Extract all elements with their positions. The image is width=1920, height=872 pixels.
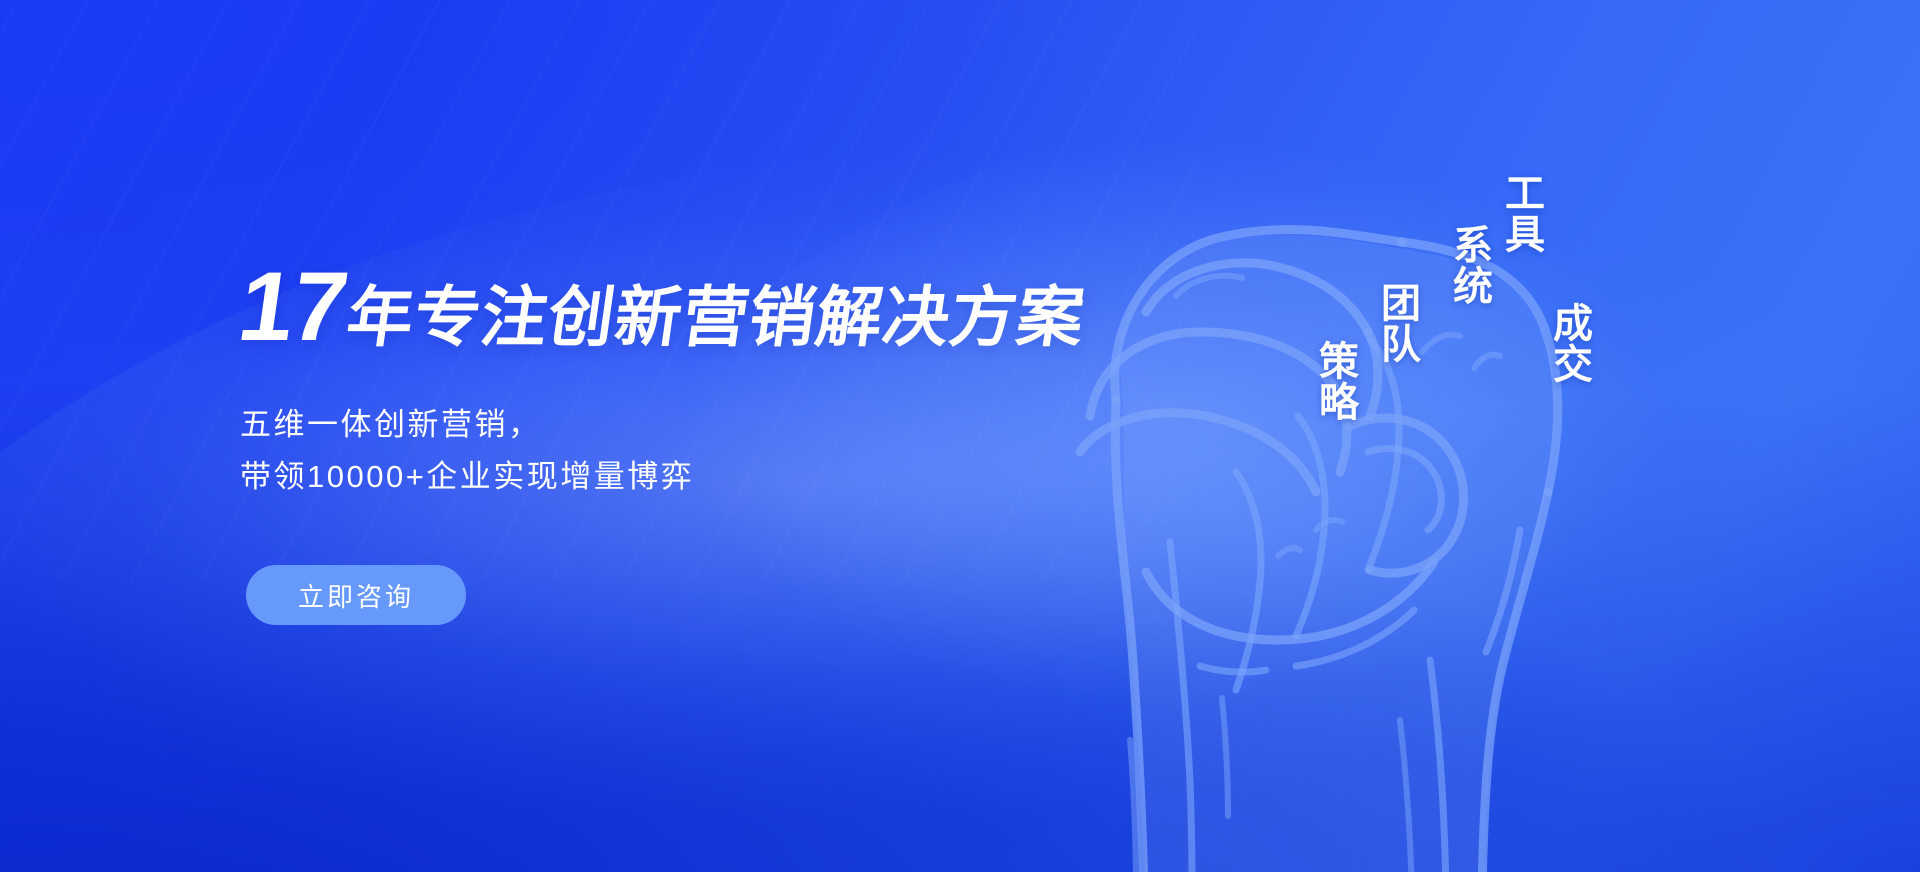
subtitle-line-2: 带领10000+企业实现增量博弈 (240, 451, 1120, 503)
hero-content: 17 年专注创新营销解决方案 五维一体创新营销， 带领10000+企业实现增量博… (240, 236, 1120, 625)
headline-years-number: 17 (233, 257, 352, 355)
fist-label-tools: 工具 (1498, 172, 1544, 254)
page-title: 17 年专注创新营销解决方案 (233, 257, 1127, 355)
subtitle-line-1: 五维一体创新营销， (240, 399, 1120, 451)
fist-label-system: 系统 (1446, 224, 1492, 306)
hero-subtitle: 五维一体创新营销， 带领10000+企业实现增量博弈 (240, 399, 1120, 503)
hero-banner: 工具 系统 团队 成交 策略 17 年专注创新营销解决方案 五维一体创新营销， … (0, 0, 1920, 872)
fist-label-team: 团队 (1374, 282, 1420, 364)
headline-rest-text: 年专注创新营销解决方案 (343, 284, 1089, 350)
consult-now-button[interactable]: 立即咨询 (246, 565, 466, 625)
fist-label-strategy: 策略 (1312, 340, 1358, 422)
fist-label-deal: 成交 (1546, 302, 1592, 384)
